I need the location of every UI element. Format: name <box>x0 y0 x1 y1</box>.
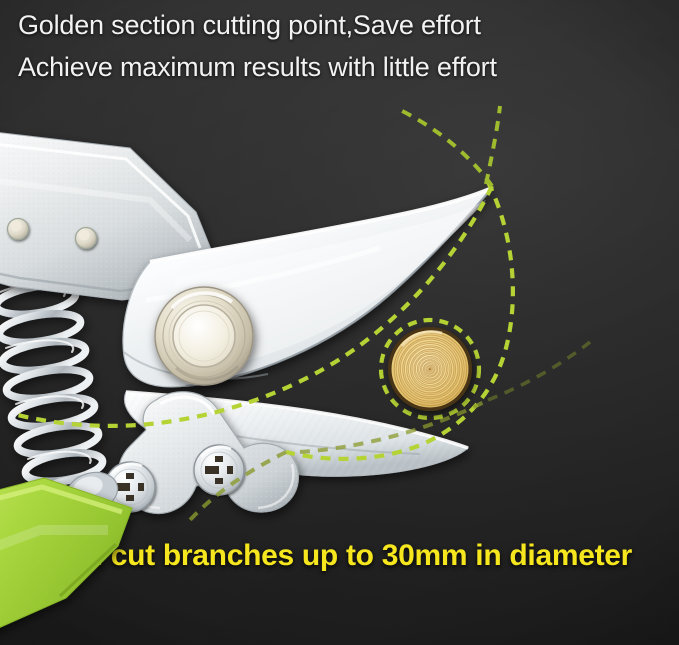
log-pith <box>429 368 431 370</box>
product-image: Golden section cutting point,Save effort… <box>0 0 679 645</box>
wood-log-graphic <box>0 0 679 645</box>
